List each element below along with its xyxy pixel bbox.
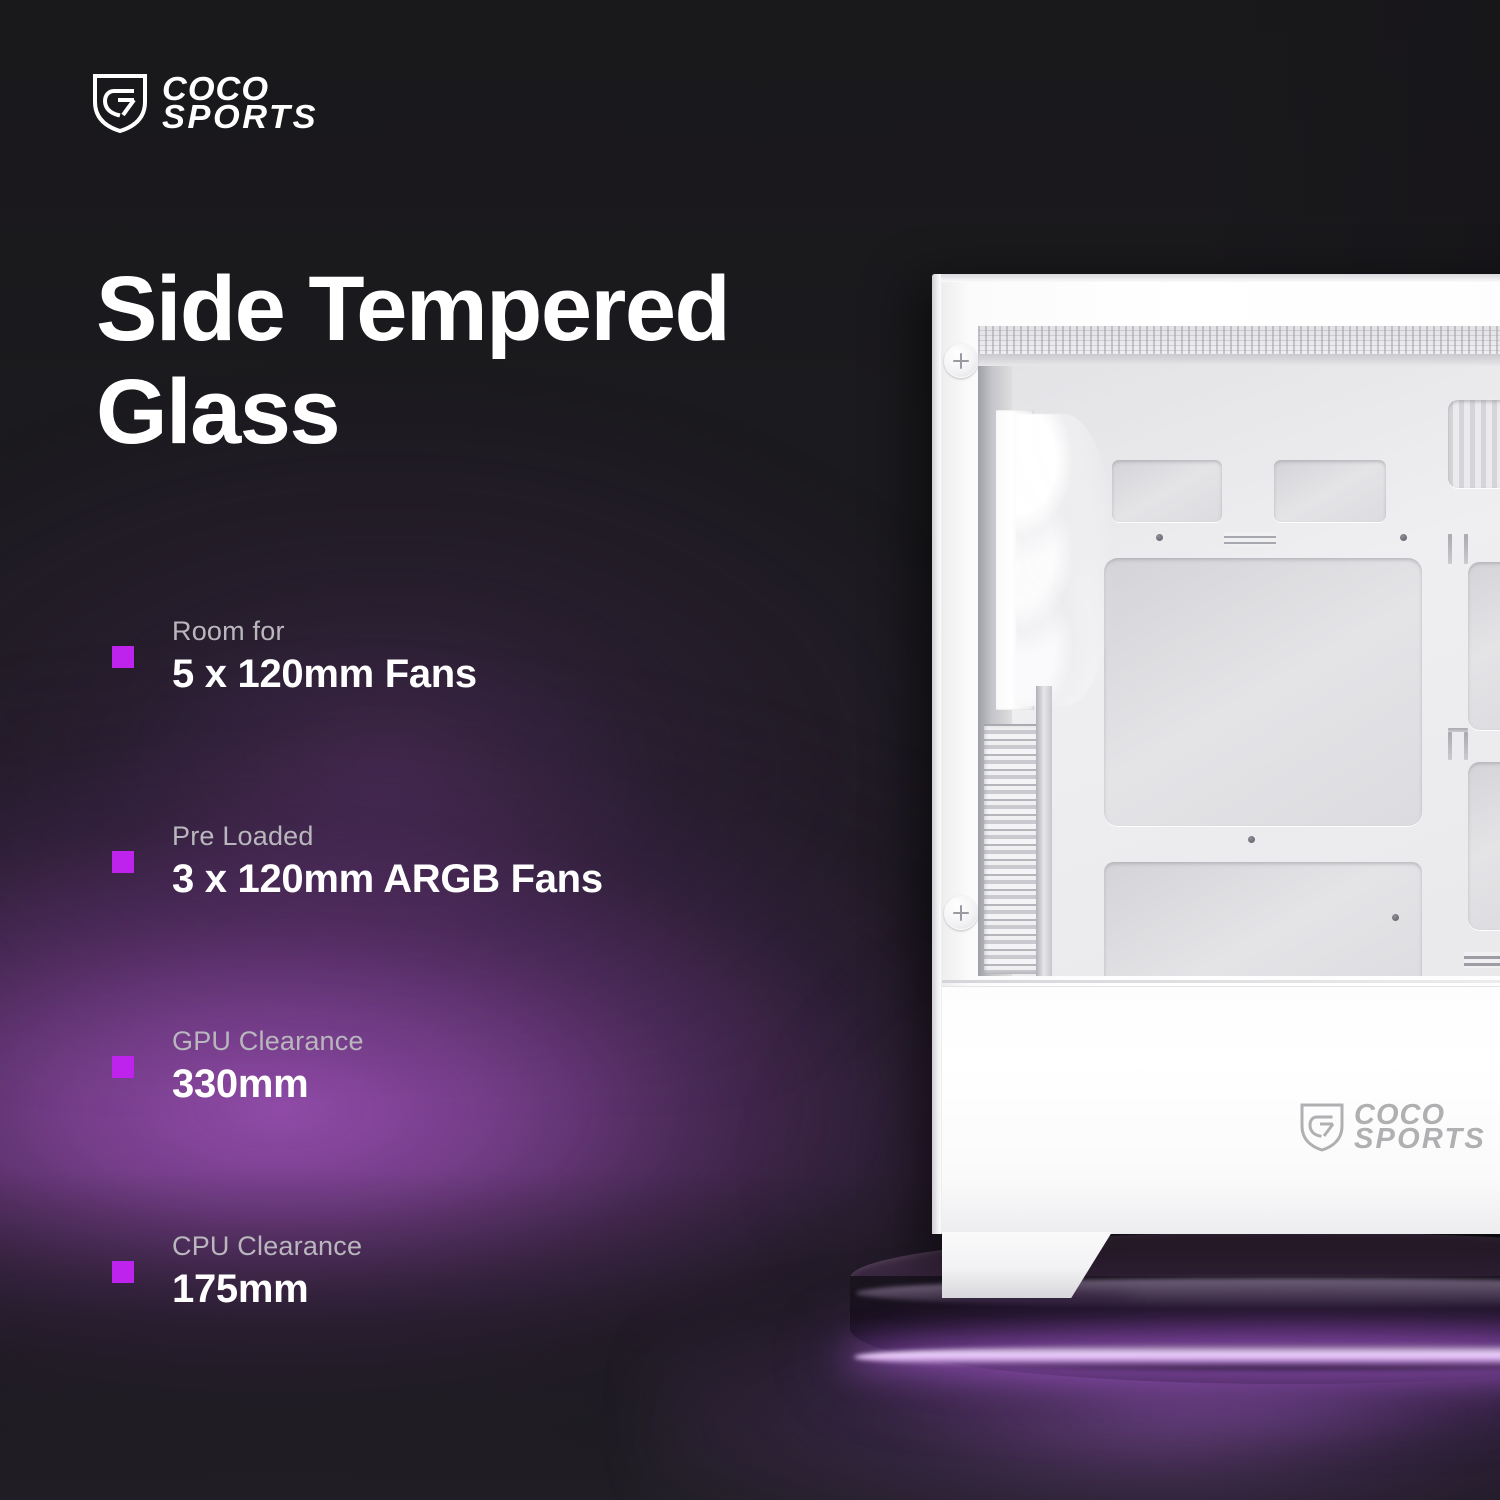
brand-line2: SPORTS xyxy=(162,103,318,131)
feature-value: 3 x 120mm ARGB Fans xyxy=(172,857,603,902)
cable-cutout-side-lower xyxy=(1468,762,1500,930)
slot-mark xyxy=(1448,534,1452,564)
tray-bar-marking xyxy=(1224,532,1276,546)
case-fan-icon xyxy=(996,410,1116,710)
feature-value: 175mm xyxy=(172,1267,308,1312)
cpu-backplate-cutout xyxy=(1104,558,1422,826)
list-item: Pre Loaded 3 x 120mm ARGB Fans xyxy=(112,805,872,1010)
feature-label: Pre Loaded xyxy=(172,821,314,852)
standoff-screw-icon xyxy=(1400,534,1407,541)
list-item: CPU Clearance 175mm xyxy=(112,1215,872,1420)
list-item: GPU Clearance 330mm xyxy=(112,1010,872,1215)
list-item: Room for 5 x 120mm Fans xyxy=(112,600,872,805)
brand-logo[interactable]: COCO SPORTS xyxy=(92,72,312,134)
slot-mark xyxy=(1464,534,1468,564)
feature-label: CPU Clearance xyxy=(172,1231,362,1262)
slot-mark xyxy=(1464,732,1468,760)
top-mesh-lip xyxy=(978,354,1500,366)
cable-cutout-side-upper xyxy=(1468,562,1500,730)
cable-cutout-top-right xyxy=(1274,460,1386,522)
top-mesh-vent-icon xyxy=(978,326,1500,356)
square-bullet-icon xyxy=(112,1056,134,1078)
case-left-rail xyxy=(932,274,941,1234)
tempered-glass-edge xyxy=(932,274,1500,282)
phillips-thumbscrew-icon xyxy=(944,344,978,378)
square-bullet-icon xyxy=(112,851,134,873)
page-title: Side Tempered Glass xyxy=(96,258,856,464)
lower-tray-cutout xyxy=(1104,862,1422,976)
standoff-screw-icon xyxy=(1156,534,1163,541)
rear-post xyxy=(1036,686,1052,976)
tray-bar-marking xyxy=(1464,952,1500,968)
coco-sports-shield-icon xyxy=(1300,1102,1344,1152)
standoff-screw-icon xyxy=(1392,914,1399,921)
slot-mark xyxy=(1448,732,1452,760)
case-brand-logo: COCO SPORTS xyxy=(1300,1102,1486,1152)
product-feature-banner: COCO SPORTS COCO SPORTS Side Tempered Gl… xyxy=(0,0,1500,1500)
case-interior xyxy=(978,326,1500,976)
case-body xyxy=(932,274,1500,1234)
square-bullet-icon xyxy=(112,646,134,668)
case-brand-line2: SPORTS xyxy=(1354,1127,1486,1151)
feature-list: Room for 5 x 120mm Fans Pre Loaded 3 x 1… xyxy=(112,600,872,1420)
standoff-screw-icon xyxy=(1248,836,1255,843)
feature-value: 5 x 120mm Fans xyxy=(172,652,477,697)
feature-label: Room for xyxy=(172,616,285,647)
feature-label: GPU Clearance xyxy=(172,1026,364,1057)
rear-vent-grille-icon xyxy=(1448,400,1500,488)
rear-expansion-vent-icon xyxy=(984,724,1042,974)
case-brand-wordmark: COCO SPORTS xyxy=(1354,1103,1486,1152)
shroud-seam xyxy=(942,980,1500,983)
cable-cutout-top-left xyxy=(1112,460,1222,522)
brand-wordmark: COCO SPORTS xyxy=(162,75,312,130)
fan-blades xyxy=(1016,414,1116,706)
pc-case-product-image: COCO SPORTS xyxy=(932,274,1500,1264)
slot-mark xyxy=(1448,728,1468,732)
phillips-thumbscrew-icon xyxy=(944,896,978,930)
feature-value: 330mm xyxy=(172,1062,308,1107)
coco-sports-shield-icon xyxy=(92,72,148,134)
square-bullet-icon xyxy=(112,1261,134,1283)
